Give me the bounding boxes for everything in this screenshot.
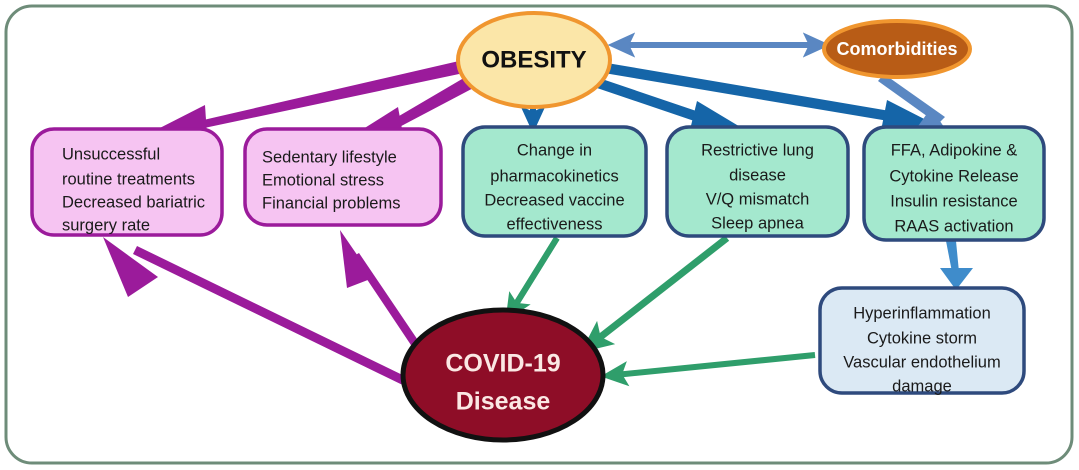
restrictive-lung-line-2: disease: [729, 166, 786, 184]
obesity-covid19-flow-diagram: Unsuccessful routine treatments Decrease…: [0, 0, 1079, 470]
unsuccessful-treatments-line-3: Decreased bariatric: [62, 193, 205, 211]
node-comorbidities[interactable]: Comorbidities: [824, 21, 970, 77]
unsuccessful-treatments-line-4: surgery rate: [62, 216, 150, 234]
hyperinflammation-line-3: Vascular endothelium: [843, 353, 1000, 371]
pharmacokinetics-line-2: pharmacokinetics: [490, 167, 618, 185]
hyperinflammation-line-1: Hyperinflammation: [853, 304, 991, 322]
obesity-label: OBESITY: [481, 46, 586, 73]
ffa-release-line-1: FFA, Adipokine &: [891, 141, 1018, 159]
pharmacokinetics-line-4: effectiveness: [506, 215, 602, 233]
node-obesity[interactable]: OBESITY: [458, 13, 610, 107]
covid-label-line-1: COVID-19: [445, 350, 560, 378]
unsuccessful-treatments-line-2: routine treatments: [62, 170, 195, 188]
comorbidities-label: Comorbidities: [836, 39, 957, 59]
node-pharmacokinetics[interactable]: Change in pharmacokinetics Decreased vac…: [463, 127, 646, 236]
pharmacokinetics-line-1: Change in: [517, 141, 592, 159]
node-unsuccessful-treatments[interactable]: Unsuccessful routine treatments Decrease…: [32, 129, 222, 235]
covid-label-line-2: Disease: [456, 388, 551, 416]
sedentary-lifestyle-line-3: Financial problems: [262, 194, 400, 212]
pharmacokinetics-line-3: Decreased vaccine: [484, 191, 624, 209]
node-ffa-release[interactable]: FFA, Adipokine & Cytokine Release Insuli…: [864, 127, 1044, 240]
node-restrictive-lung[interactable]: Restrictive lung disease V/Q mismatch Sl…: [667, 127, 848, 236]
hyperinflammation-line-4: damage: [892, 377, 952, 395]
diagram-canvas: Unsuccessful routine treatments Decrease…: [0, 0, 1079, 470]
node-covid[interactable]: COVID-19 Disease: [403, 310, 603, 440]
node-hyperinflammation[interactable]: Hyperinflammation Cytokine storm Vascula…: [820, 288, 1024, 395]
ffa-release-line-4: RAAS activation: [894, 217, 1013, 235]
ffa-release-line-2: Cytokine Release: [889, 167, 1018, 185]
restrictive-lung-line-1: Restrictive lung: [701, 141, 814, 159]
restrictive-lung-line-4: Sleep apnea: [711, 214, 804, 232]
hyperinflammation-line-2: Cytokine storm: [867, 329, 977, 347]
unsuccessful-treatments-line-1: Unsuccessful: [62, 145, 160, 163]
node-sedentary-lifestyle[interactable]: Sedentary lifestyle Emotional stress Fin…: [245, 129, 441, 225]
ffa-release-line-3: Insulin resistance: [890, 192, 1017, 210]
sedentary-lifestyle-line-2: Emotional stress: [262, 171, 384, 189]
restrictive-lung-line-3: V/Q mismatch: [706, 190, 810, 208]
sedentary-lifestyle-line-1: Sedentary lifestyle: [262, 148, 397, 166]
